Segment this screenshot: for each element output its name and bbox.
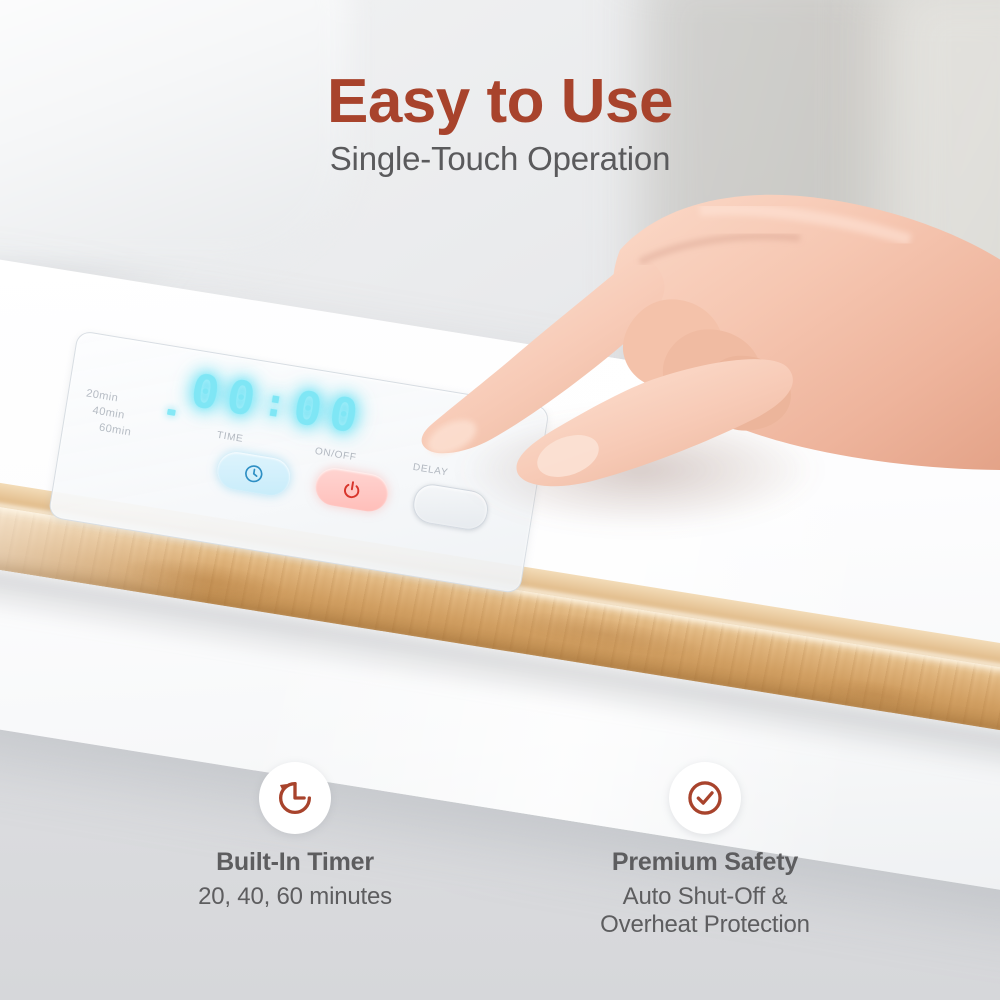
page-subtitle: Single-Touch Operation [0, 140, 1000, 178]
delay-button[interactable] [410, 481, 490, 532]
led-digit-1: 0 [188, 367, 224, 417]
time-button-cell: TIME [215, 449, 293, 498]
feature-safety-description: Auto Shut-Off &Overheat Protection [570, 883, 840, 940]
power-button-label: ON/OFF [314, 446, 357, 463]
feature-timer-badge [259, 762, 331, 834]
led-display: 0 0 : 0 0 [188, 367, 362, 439]
led-digit-4: 0 [326, 390, 362, 440]
clock-icon [241, 461, 266, 486]
check-circle-icon [684, 777, 726, 819]
time-button-label: TIME [216, 430, 244, 445]
led-digit-2: 0 [224, 373, 260, 423]
timer-preset-labels: 20min 40min 60min [80, 387, 137, 438]
led-indicator-dot [167, 409, 176, 416]
led-colon: : [260, 382, 290, 425]
product-marketing-image: 0 0 : 0 0 20min 40min 60min TIME [0, 0, 1000, 1000]
feature-list: Built-In Timer 20, 40, 60 minutes Premiu… [150, 762, 850, 940]
delay-button-label: DELAY [412, 462, 449, 478]
timer-rotate-icon [274, 777, 316, 819]
power-icon [339, 477, 364, 502]
feature-timer-description: 20, 40, 60 minutes [160, 883, 430, 911]
page-title: Easy to Use [0, 66, 1000, 137]
feature-safety-badge [669, 762, 741, 834]
button-group: TIME ON/OFF DELAY [214, 449, 490, 532]
feature-safety-title: Premium Safety [570, 848, 840, 877]
feature-timer: Built-In Timer 20, 40, 60 minutes [160, 762, 430, 940]
power-button[interactable] [313, 465, 391, 514]
feature-timer-title: Built-In Timer [160, 848, 430, 877]
delay-button-cell: DELAY [410, 481, 490, 532]
led-digit-3: 0 [290, 384, 326, 434]
power-button-cell: ON/OFF [313, 465, 391, 514]
feature-safety: Premium Safety Auto Shut-Off &Overheat P… [570, 762, 840, 940]
time-button[interactable] [215, 449, 293, 498]
background-window [880, 0, 1000, 390]
